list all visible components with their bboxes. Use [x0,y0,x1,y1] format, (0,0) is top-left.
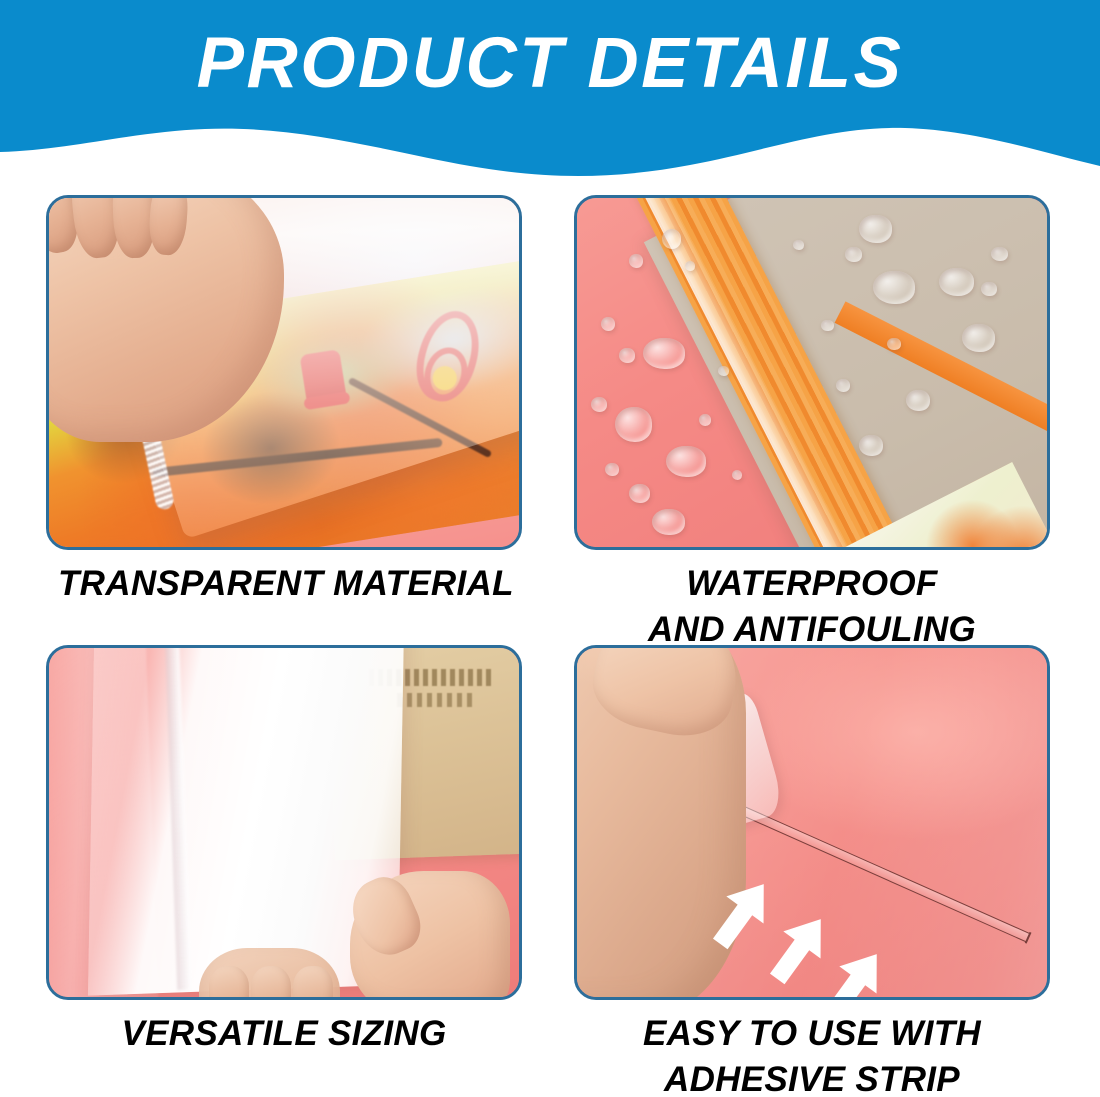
feature-panel-adhesive-strip: EASY TO USE WITH ADHESIVE STRIP [574,645,1050,1000]
water-droplet [652,509,685,535]
water-droplet [962,324,995,352]
notebook-printed-text [397,693,477,707]
water-droplet [666,446,706,477]
water-droplet [859,215,892,243]
water-droplet [859,435,883,456]
panel-caption-waterproof: WATERPROOF AND ANTIFOULING [544,561,1080,653]
water-droplet [873,271,915,304]
panel-caption-transparent-material: TRANSPARENT MATERIAL [58,561,594,607]
water-droplet [906,390,930,411]
feature-panel-waterproof: WATERPROOF AND ANTIFOULING [574,195,1050,550]
water-droplet [718,366,729,376]
water-droplet [732,470,742,480]
water-droplet [836,379,850,392]
water-droplet [643,338,685,369]
fingertip [251,966,291,1000]
photo-hand-lifting-transparent-book-cover [46,195,522,550]
water-droplet [601,317,615,331]
water-droplet [662,229,682,248]
water-droplet [629,484,650,503]
water-droplet [991,247,1008,261]
water-droplet [981,282,997,297]
photo-water-droplets-on-covered-book [574,195,1050,550]
finger [147,195,189,256]
water-droplet [591,397,607,412]
water-droplet [821,320,833,331]
feature-panel-transparent-material: TRANSPARENT MATERIAL [46,195,522,550]
panel-caption-adhesive-strip: EASY TO USE WITH ADHESIVE STRIP [544,1011,1080,1097]
panel-caption-versatile-sizing: VERSATILE SIZING [16,1011,552,1057]
water-droplet [629,254,643,268]
feature-grid: TRANSPARENT MATERIAL [0,190,1100,1097]
page-title: PRODUCT DETAILS [0,26,1100,103]
product-details-infographic: PRODUCT DETAILS [0,0,1100,1097]
header-banner: PRODUCT DETAILS [0,0,1100,200]
water-droplet [619,348,635,363]
water-droplet [615,407,653,442]
feature-panel-versatile-sizing: VERSATILE SIZING [46,645,522,1000]
fingertip [293,966,333,1000]
water-droplet [845,247,862,262]
water-droplet [939,268,974,296]
water-droplet [887,338,901,351]
fingertip [209,966,249,1000]
photo-peeling-adhesive-strip-with-arrows [574,645,1050,1000]
photo-clear-sheet-folded-over-notebook [46,645,522,1000]
